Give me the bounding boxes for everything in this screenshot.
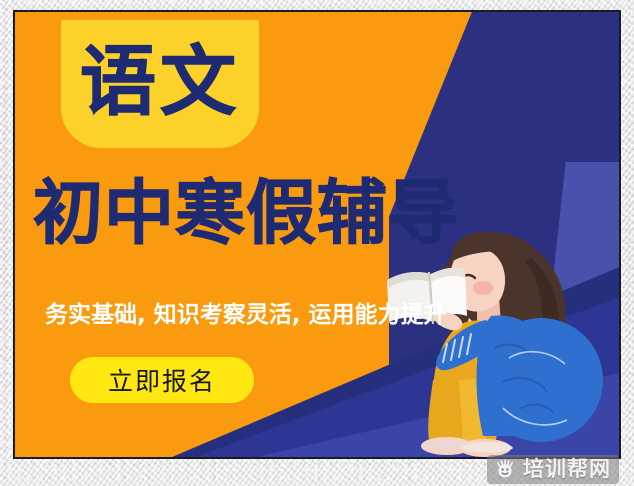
subject-chip: 语文 (61, 20, 259, 148)
banner-subtitle: 务实基础, 知识考察灵活, 运用能力提升 (45, 295, 447, 329)
promo-banner: 语文 初中寒假辅导 务实基础, 知识考察灵活, 运用能力提升 立即报名 (13, 10, 621, 459)
subject-chip-label: 语文 (80, 44, 240, 124)
watermark-text: 培训帮网 (523, 459, 611, 480)
sun-face-icon (494, 458, 516, 480)
banner-headline: 初中寒假辅导 (33, 178, 459, 248)
banner-screenshot: 语文 初中寒假辅导 务实基础, 知识考察灵活, 运用能力提升 立即报名 培训帮网 (0, 0, 634, 486)
enroll-now-button[interactable]: 立即报名 (70, 357, 254, 403)
watermark: 培训帮网 (487, 455, 619, 484)
